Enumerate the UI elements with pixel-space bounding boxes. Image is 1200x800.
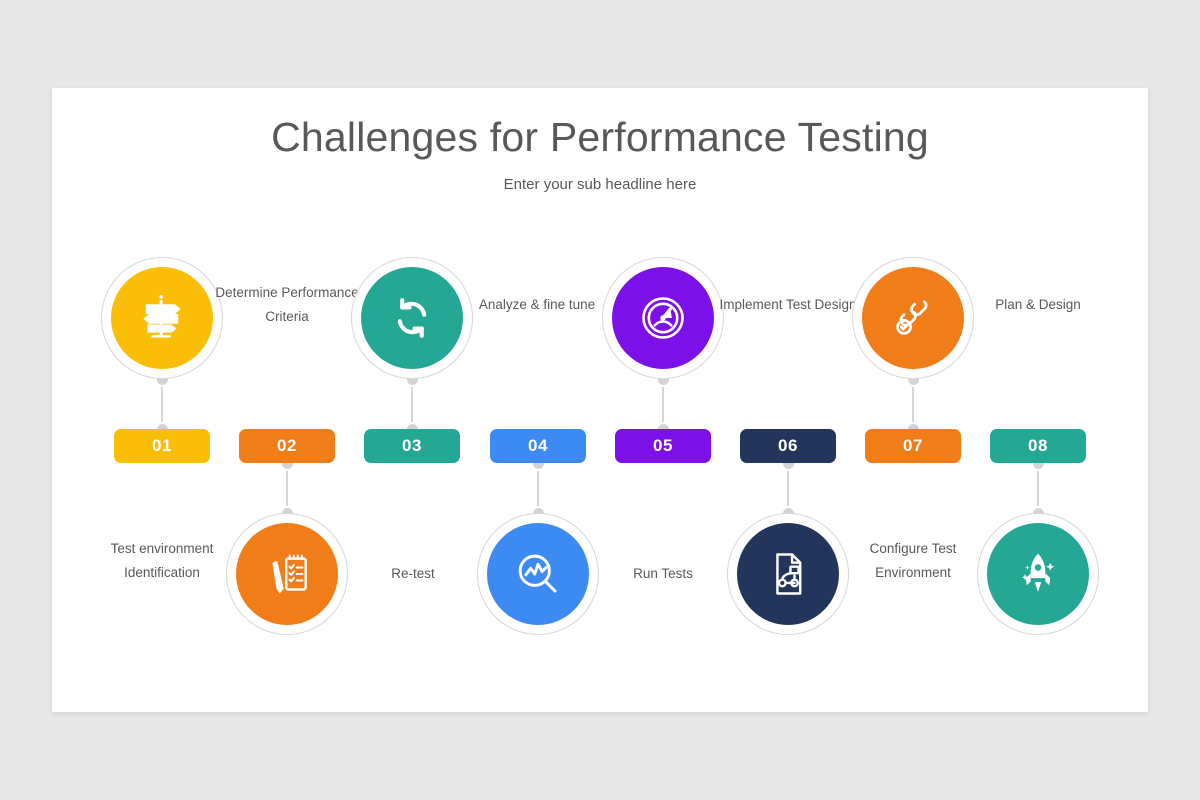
step-number-badge[interactable]: 04 <box>490 429 586 463</box>
step-label: Configure Test Environment <box>838 537 988 587</box>
step-label: Run Tests <box>588 562 738 587</box>
step-label: Analyze & fine tune <box>462 293 612 318</box>
step-disc[interactable] <box>361 267 463 369</box>
slide-card: Challenges for Performance Testing Enter… <box>52 88 1148 712</box>
step-label: Plan & Design <box>963 293 1113 318</box>
process-diagram: 01Determine Performance Criteria <box>52 88 1148 712</box>
step-label: Re-test <box>338 562 488 587</box>
step-disc[interactable] <box>487 523 589 625</box>
rocket-icon <box>1012 548 1064 600</box>
step-number-badge[interactable]: 05 <box>615 429 711 463</box>
document-flowchart-icon <box>762 548 814 600</box>
step-label: Test environment Identification <box>87 537 237 587</box>
step-disc[interactable] <box>737 523 839 625</box>
signpost-icon <box>136 292 188 344</box>
step-disc[interactable] <box>236 523 338 625</box>
speedometer-icon <box>637 292 689 344</box>
step-disc[interactable] <box>987 523 1089 625</box>
checklist-pencil-icon <box>261 548 313 600</box>
magnifier-chart-icon <box>512 548 564 600</box>
step-number-badge[interactable]: 03 <box>364 429 460 463</box>
step-number-badge[interactable]: 07 <box>865 429 961 463</box>
step-number-badge[interactable]: 08 <box>990 429 1086 463</box>
step-number-badge[interactable]: 01 <box>114 429 210 463</box>
step-number-badge[interactable]: 02 <box>239 429 335 463</box>
step-disc[interactable] <box>862 267 964 369</box>
step-label: Implement Test Design <box>713 293 863 318</box>
step-disc[interactable] <box>111 267 213 369</box>
step-label: Determine Performance Criteria <box>212 281 362 331</box>
step-number-badge[interactable]: 06 <box>740 429 836 463</box>
chain-check-icon <box>887 292 939 344</box>
refresh-cycle-icon <box>386 292 438 344</box>
step-disc[interactable] <box>612 267 714 369</box>
